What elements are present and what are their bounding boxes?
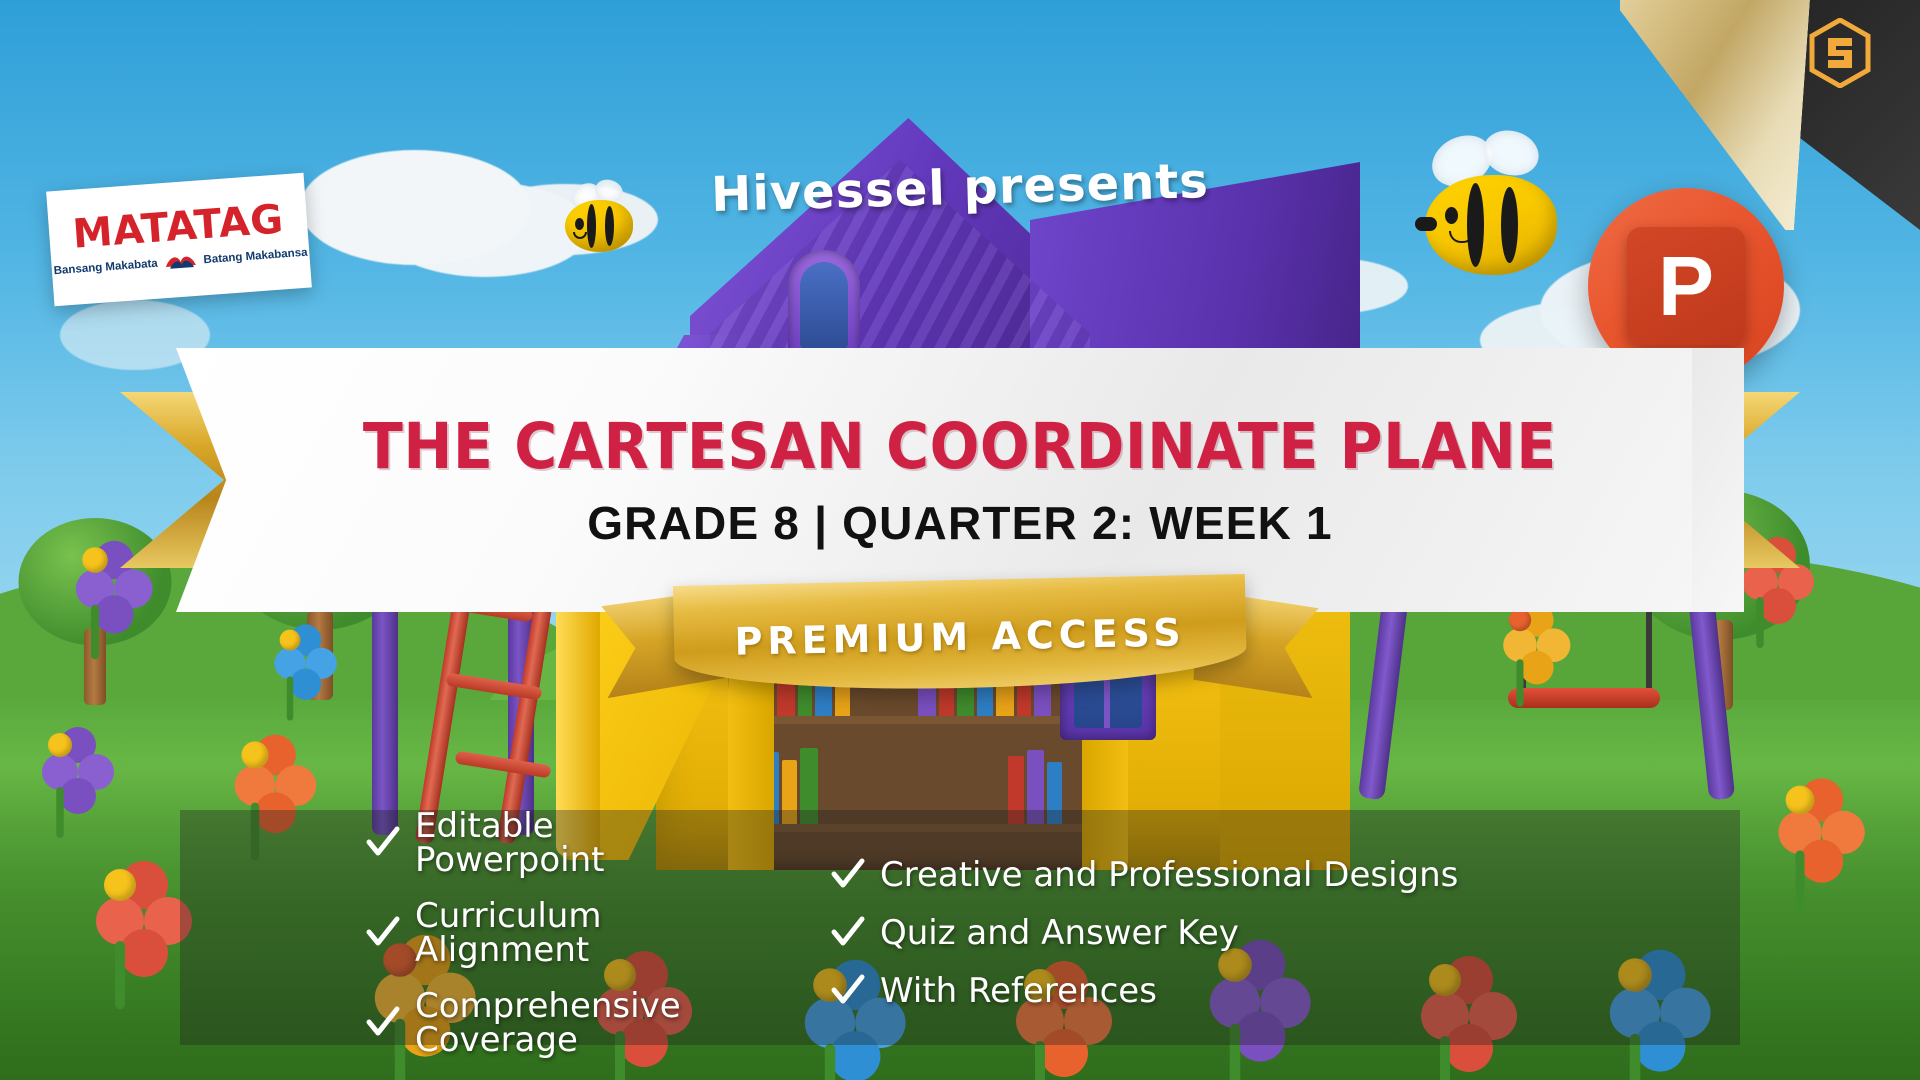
features-right-column: Creative and Professional Designs Quiz a… xyxy=(740,857,1520,1009)
hexagon-hive-logo-icon xyxy=(1808,18,1872,88)
matatag-tagline-right: Batang Makabansa xyxy=(203,247,308,267)
feature-label: Editable Powerpoint xyxy=(415,809,740,877)
features-panel: Editable Powerpoint Curriculum Alignment… xyxy=(180,810,1740,1045)
premium-access-label: PREMIUM ACCESS xyxy=(734,610,1186,663)
premium-access-ribbon: PREMIUM ACCESS xyxy=(620,580,1300,710)
list-item: Quiz and Answer Key xyxy=(830,915,1520,951)
feature-label: Comprehensive Coverage xyxy=(415,989,740,1057)
feature-label: Creative and Professional Designs xyxy=(880,858,1458,892)
matatag-emblem-icon xyxy=(163,251,198,273)
page-title: THE CARTESAN COORDINATE PLANE xyxy=(363,415,1557,478)
check-icon xyxy=(830,915,866,951)
feature-label: Curriculum Alignment xyxy=(415,899,740,967)
list-item: Editable Powerpoint xyxy=(365,809,740,877)
feature-label: Quiz and Answer Key xyxy=(880,916,1239,950)
features-left-column: Editable Powerpoint Curriculum Alignment… xyxy=(180,809,740,1057)
check-icon xyxy=(365,1005,401,1041)
check-icon xyxy=(365,915,401,951)
list-item: With References xyxy=(830,973,1520,1009)
check-icon xyxy=(830,857,866,893)
check-icon xyxy=(365,825,401,861)
list-item: Curriculum Alignment xyxy=(365,899,740,967)
title-banner: THE CARTESAN COORDINATE PLANE GRADE 8 | … xyxy=(120,348,1800,612)
list-item: Creative and Professional Designs xyxy=(830,857,1520,893)
feature-label: With References xyxy=(880,974,1157,1008)
list-item: Comprehensive Coverage xyxy=(365,989,740,1057)
check-icon xyxy=(830,973,866,1009)
powerpoint-letter: P xyxy=(1658,244,1714,328)
matatag-tagline-left: Bansang Makabata xyxy=(53,258,158,278)
page-subtitle: GRADE 8 | QUARTER 2: WEEK 1 xyxy=(587,500,1333,546)
